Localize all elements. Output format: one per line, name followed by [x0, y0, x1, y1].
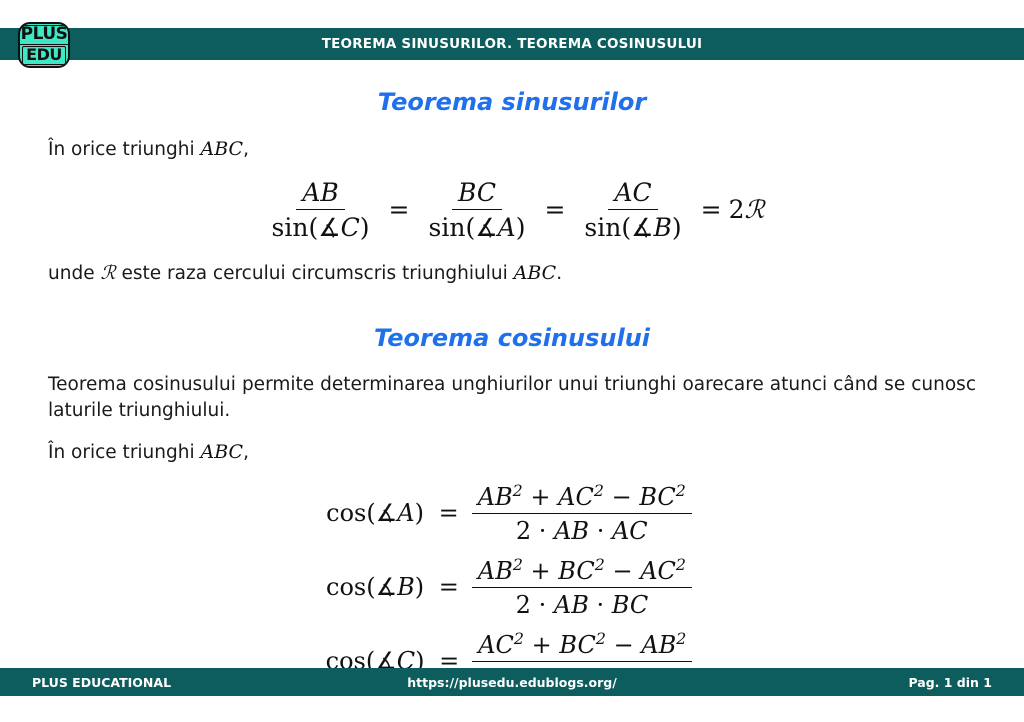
sine-den-1: sin(∡C) [266, 210, 376, 242]
law-of-cosines-formula-a: cos(∡A) = AB2 + AC2 − BC2 2 · AB · AC [297, 481, 727, 545]
angle-symbol-icon: ∡ [475, 213, 497, 242]
sine-intro-triangle: ABC [201, 138, 244, 160]
sine-fraction-1: AB sin(∡C) [266, 178, 376, 242]
angle-symbol-icon: ∡ [376, 499, 398, 527]
cos-b-num-term-2: BC [558, 557, 594, 585]
cos-a-den-dot-1: · [539, 517, 547, 545]
cos-c-num-term-1: AC [478, 631, 514, 659]
footer-page-number: Pag. 1 din 1 [908, 675, 992, 690]
cos-b-fraction: AB2 + BC2 − AC2 2 · AB · BC [472, 555, 692, 619]
cos-a-num-term-3: BC [639, 483, 675, 511]
footer-bar: PLUS EDUCATIONAL https://plusedu.edublog… [0, 668, 1024, 696]
cos-a-num-exp-3: 2 [676, 481, 686, 500]
cos-a-fraction: AB2 + AC2 − BC2 2 · AB · AC [472, 481, 692, 545]
header-bar: TEOREMA SINUSURILOR. TEOREMA COSINUSULUI [0, 28, 1024, 60]
cos-b-denominator: 2 · AB · BC [510, 588, 655, 619]
sine-var-1: C [341, 213, 360, 242]
note-circumradius-symbol: ℛ [100, 262, 115, 284]
cos-c-num-term-2: BC [559, 631, 595, 659]
note-prefix: unde [48, 263, 100, 284]
law-of-cosines-formula-b: cos(∡B) = AB2 + BC2 − AC2 2 · AB · BC [297, 555, 727, 619]
cos-b-fn: cos [326, 573, 366, 601]
sine-var-3: B [654, 213, 672, 242]
section-title-sinusurilor: Teorema sinusurilor [0, 88, 1024, 116]
cosine-intro-line: În orice triunghi ABC, [48, 439, 976, 467]
sine-equals-3: = [701, 195, 722, 224]
cos-a-num-term-2: AC [558, 483, 594, 511]
cos-b-den-coeff: 2 [516, 591, 531, 619]
cos-b-var: B [397, 573, 415, 601]
angle-symbol-icon: ∡ [376, 573, 398, 601]
cos-b-num-term-1: AB [478, 557, 513, 585]
sine-num-3: AC [608, 178, 657, 210]
cos-b-den-term-1: AB [554, 591, 589, 619]
cos-a-num-exp-2: 2 [594, 481, 604, 500]
cos-a-var: A [397, 499, 414, 527]
cos-a-equals: = [439, 499, 459, 527]
circumradius-note: unde ℛ este raza cercului circumscris tr… [48, 260, 976, 288]
cos-b-den-dot-2: · [596, 591, 604, 619]
cos-c-num-op-1: + [532, 631, 552, 659]
cos-a-numerator: AB2 + AC2 − BC2 [472, 481, 692, 514]
footer-organization: PLUS EDUCATIONAL [32, 675, 171, 690]
sine-intro-text: În orice triunghi [48, 139, 201, 160]
cos-a-den-dot-2: · [597, 517, 605, 545]
logo-text-plus: PLUS [18, 25, 70, 45]
sine-num-2: BC [452, 178, 502, 210]
sine-fn-1: sin [272, 213, 309, 242]
sine-den-2: sin(∡A) [423, 210, 532, 242]
cos-c-num-exp-1: 2 [514, 629, 524, 648]
cos-a-num-op-2: − [612, 483, 632, 511]
cos-a-denominator: 2 · AB · AC [510, 514, 654, 545]
sine-fn-2: sin [429, 213, 466, 242]
cos-b-num-exp-1: 2 [513, 555, 523, 574]
cos-c-num-exp-3: 2 [676, 629, 686, 648]
angle-symbol-icon: ∡ [631, 213, 653, 242]
cos-a-den-term-2: AC [612, 517, 648, 545]
cos-a-num-op-1: + [530, 483, 550, 511]
cos-b-num-op-1: + [531, 557, 551, 585]
sine-intro-line: În orice triunghi ABC, [48, 136, 976, 164]
note-middle: este raza cercului circumscris triunghiu… [116, 263, 514, 284]
sine-result-coefficient: 2 [729, 195, 745, 224]
cos-c-numerator: AC2 + BC2 − AB2 [472, 629, 692, 662]
cos-a-den-coeff: 2 [516, 517, 531, 545]
cos-b-left-side: cos(∡B) = [326, 573, 466, 601]
cos-a-num-term-1: AB [478, 483, 513, 511]
sine-equals-1: = [389, 195, 410, 224]
cos-b-den-dot-1: · [539, 591, 547, 619]
cosine-intro-triangle: ABC [201, 441, 244, 463]
sine-var-2: A [498, 213, 516, 242]
cos-b-num-exp-2: 2 [595, 555, 605, 574]
angle-symbol-icon: ∡ [318, 213, 340, 242]
cos-b-num-exp-3: 2 [676, 555, 686, 574]
logo-text-edu: EDU [22, 46, 66, 65]
cos-c-num-exp-2: 2 [596, 629, 606, 648]
cos-a-den-term-1: AB [554, 517, 589, 545]
sine-num-1: AB [296, 178, 344, 210]
sine-intro-comma: , [243, 139, 249, 160]
cos-b-numerator: AB2 + BC2 − AC2 [472, 555, 692, 588]
sine-equals-2: = [544, 195, 565, 224]
sine-fn-3: sin [584, 213, 621, 242]
cosine-intro-comma: , [243, 442, 249, 463]
page-title: TEOREMA SINUSURILOR. TEOREMA COSINUSULUI [322, 36, 703, 52]
sine-fraction-2: BC sin(∡A) [423, 178, 532, 242]
cosine-description-paragraph: Teorema cosinusului permite determinarea… [48, 372, 976, 426]
cos-a-left-side: cos(∡A) = [326, 499, 466, 527]
cosine-intro-text: În orice triunghi [48, 442, 201, 463]
document-body: Teorema sinusurilor În orice triunghi AB… [0, 60, 1024, 668]
cos-b-equals: = [439, 573, 459, 601]
cos-b-num-term-3: AC [640, 557, 676, 585]
note-period: . [556, 263, 562, 284]
cos-a-fn: cos [326, 499, 366, 527]
law-of-sines-formula: AB sin(∡C) = BC sin(∡A) = AC sin(∡B) = 2… [0, 178, 1024, 242]
cos-c-num-term-3: AB [641, 631, 676, 659]
cos-c-num-op-2: − [614, 631, 634, 659]
cos-a-num-exp-1: 2 [513, 481, 523, 500]
sine-fraction-3: AC sin(∡B) [578, 178, 687, 242]
section-title-cosinusului: Teorema cosinusului [0, 324, 1024, 352]
circumradius-symbol: ℛ [745, 195, 765, 224]
law-of-cosines-formula-group: cos(∡A) = AB2 + AC2 − BC2 2 · AB · AC co… [0, 481, 1024, 693]
sine-den-3: sin(∡B) [578, 210, 687, 242]
note-triangle: ABC [514, 262, 557, 284]
brand-logo: PLUS EDU [18, 22, 70, 68]
cos-b-den-term-2: BC [612, 591, 648, 619]
cos-b-num-op-2: − [612, 557, 632, 585]
